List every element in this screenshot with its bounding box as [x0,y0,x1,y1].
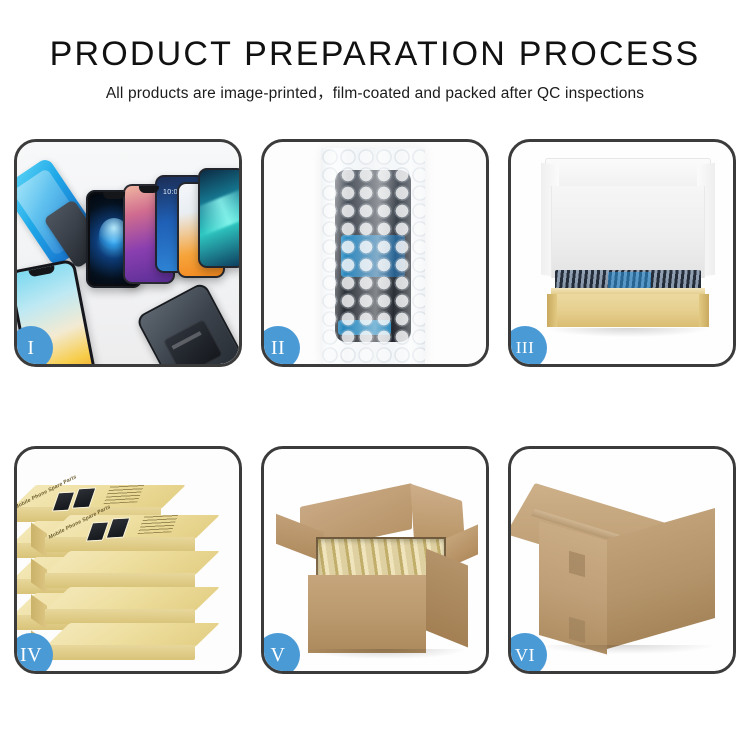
step-panel-products[interactable]: 10:08 I [14,139,242,367]
process-step-grid: 10:08 I [14,139,736,674]
retail-box-front [45,573,195,588]
step-panel-inner-box[interactable]: III [508,139,736,367]
mailer-box-foam-liner [551,186,705,278]
step-panel-stacked-boxes[interactable]: Mobile Phone Spare Parts [14,446,242,674]
drop-shadow [537,645,715,654]
film-gloss [321,148,425,364]
phone-wallpaper-swirl [198,187,239,235]
retail-box-front [45,609,195,624]
retail-box-top [45,623,220,647]
step-badge-6: VI [508,633,547,674]
carton-body-right [426,549,468,648]
step-image-products: 10:08 [17,142,239,364]
step-image-inner-box [511,142,733,364]
step-panel-carton-filled[interactable]: V [261,446,489,674]
step-image-carton-filled [264,449,486,671]
battery-icon [163,319,223,364]
retail-box-top [45,587,220,611]
retail-box-stack: Mobile Phone Spare Parts [17,449,239,671]
header: PRODUCT PREPARATION PROCESS All products… [0,0,750,105]
step-image-carton-sealed [511,449,733,671]
step-panel-carton-sealed[interactable]: VI [508,446,736,674]
step-image-stacked-boxes: Mobile Phone Spare Parts [17,449,239,671]
step-badge-4: IV [14,633,53,674]
step-image-bubble-wrap [264,142,486,364]
retail-box [45,623,195,649]
mailer-box-front-panel [547,294,709,327]
retail-box-front [45,537,195,552]
step-badge-3: III [508,326,547,367]
phone-teal-icon [198,168,239,268]
retail-box [45,551,195,577]
retail-box: Mobile Phone Spare Parts [17,485,161,511]
phone-notch-icon [139,186,159,193]
carton-handle-tab [569,551,585,578]
carton-body-front [308,575,426,653]
step-badge-1: I [14,326,53,367]
carton-handle-tab [569,617,585,644]
retail-box-front [45,645,195,660]
page-subtitle: All products are image-printed，film-coat… [0,83,750,105]
bubble-wrap-sleeve-icon [321,148,425,364]
drop-shadow [547,328,709,337]
page-title: PRODUCT PREPARATION PROCESS [0,34,750,74]
retail-box: Mobile Phone Spare Parts [45,515,195,541]
drop-shadow [306,649,466,659]
retail-box-top [45,551,220,575]
step-badge-5: V [261,633,300,674]
phone-notch-icon [103,192,125,199]
step-badge-2: II [261,326,300,367]
retail-box [45,587,195,613]
phone-notch-icon [29,266,56,278]
step-panel-bubble-wrap[interactable]: II [261,139,489,367]
